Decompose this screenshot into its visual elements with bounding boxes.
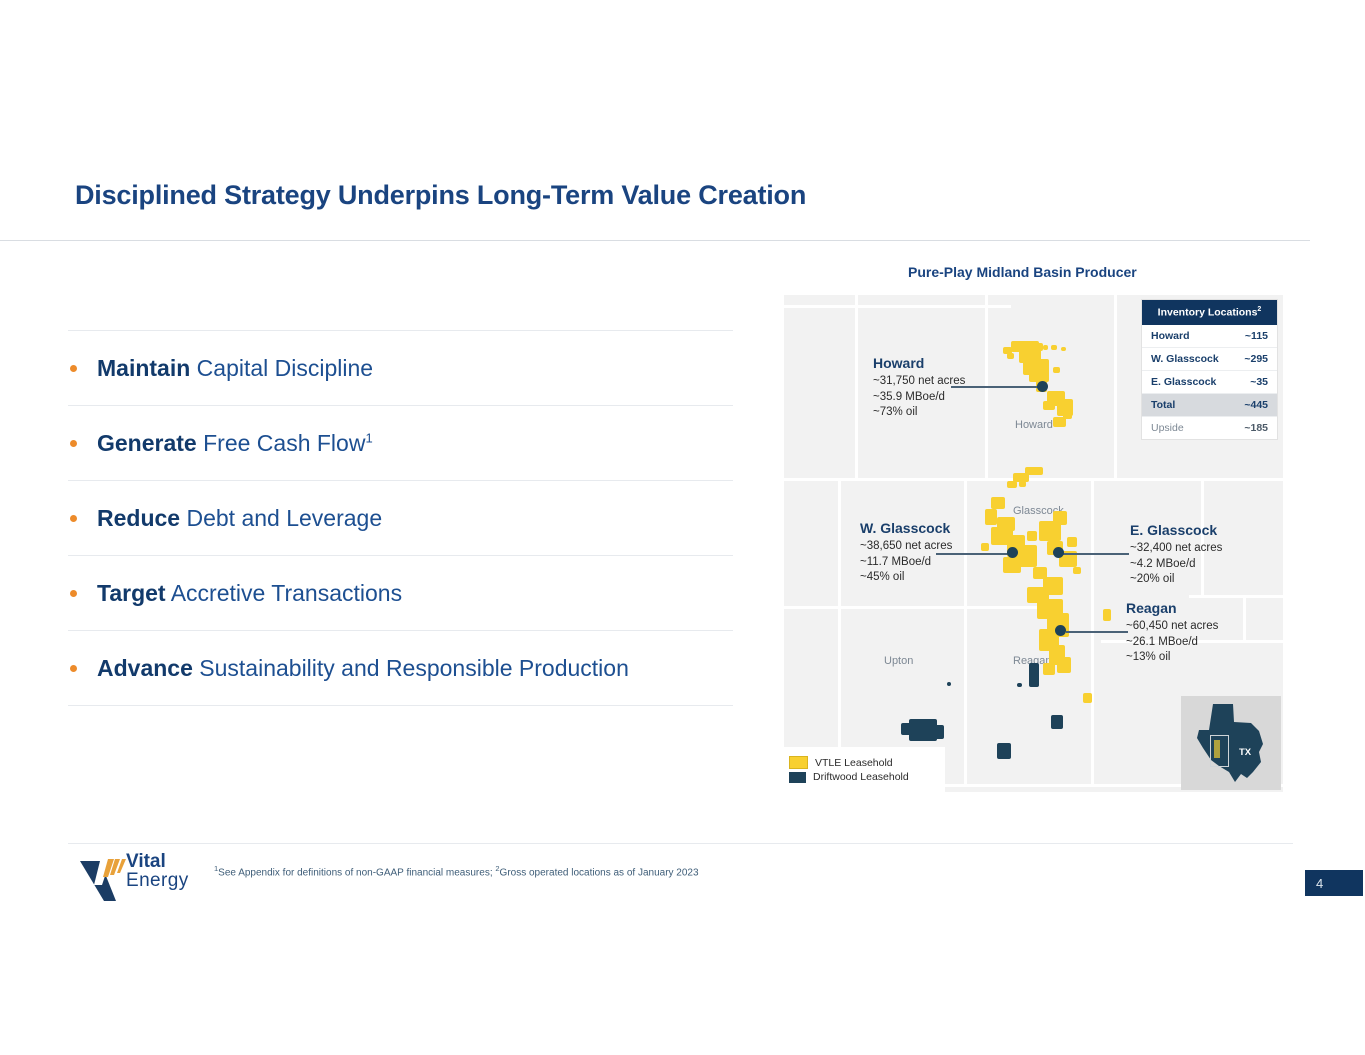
map-node-reagan [1055,625,1066,636]
strategy-bullet-list: Maintain Capital Discipline Generate Fre… [68,330,733,706]
vtle-blob [1103,609,1111,621]
callout-title: Reagan [1126,600,1218,616]
vtle-blob [981,543,989,551]
leader-line [1066,631,1128,633]
county-border [781,606,1041,609]
map-node-w-glasscock [1007,547,1018,558]
vtle-blob [1073,567,1081,574]
bullet-dot-icon [70,590,77,597]
bullet-dot-icon [70,515,77,522]
county-label: Howard [1015,419,1053,431]
row-value: ~445 [1244,399,1268,411]
page-title: Disciplined Strategy Underpins Long-Term… [75,180,806,211]
vtle-blob [1067,537,1077,547]
vtle-blob [1061,347,1066,351]
state-label: TX [1239,747,1251,758]
driftwood-blob [997,743,1011,759]
list-item: Maintain Capital Discipline [68,330,733,405]
driftwood-blob [901,723,913,735]
callout-e-glasscock: E. Glasscock ~32,400 net acres ~4.2 MBoe… [1130,522,1222,588]
callout-acres: ~32,400 net acres [1130,541,1222,557]
callout-title: W. Glasscock [860,520,952,536]
driftwood-blob [947,682,951,686]
callout-rate: ~26.1 MBoe/d [1126,635,1218,651]
vtle-blob [1007,481,1017,488]
legend-label: Driftwood Leasehold [813,771,909,783]
row-value: ~35 [1250,376,1268,388]
leader-line [1061,553,1129,555]
map-legend: VTLE Leasehold Driftwood Leasehold [781,747,945,792]
row-value: ~295 [1244,353,1268,365]
vtle-blob [991,497,1005,509]
list-item: Target Accretive Transactions [68,555,733,630]
logo-line-2: Energy [126,871,189,890]
list-item: Reduce Debt and Leverage [68,480,733,555]
map-heading: Pure-Play Midland Basin Producer [908,264,1137,280]
bullet-text: Target Accretive Transactions [97,580,402,607]
bullet-dot-icon [70,665,77,672]
footnote: 1See Appendix for definitions of non-GAA… [214,864,699,878]
vtle-blob [985,509,997,525]
table-row-upside: Upside ~185 [1142,417,1277,439]
vtle-blob [1003,557,1021,573]
callout-rate: ~11.7 MBoe/d [860,555,952,571]
driftwood-blob [1051,715,1063,729]
callout-acres: ~60,450 net acres [1126,619,1218,635]
row-label: E. Glasscock [1151,376,1216,388]
vtle-blob [1007,353,1014,359]
row-label: Total [1151,399,1175,411]
table-row: W. Glasscock ~295 [1142,348,1277,371]
callout-oil: ~20% oil [1130,572,1222,588]
logo-line-1: Vital [126,852,189,871]
callout-title: Howard [873,355,965,371]
bullet-text: Generate Free Cash Flow1 [97,430,373,457]
bullet-text: Advance Sustainability and Responsible P… [97,655,629,682]
table-row: E. Glasscock ~35 [1142,371,1277,394]
bullet-text: Reduce Debt and Leverage [97,505,382,532]
list-item: Advance Sustainability and Responsible P… [68,630,733,706]
vtle-blob [1063,411,1072,419]
map-node-e-glasscock [1053,547,1064,558]
row-value: ~115 [1245,330,1268,342]
row-label: Upside [1151,422,1184,434]
vtle-blob [1043,663,1055,675]
vtle-blob [1027,531,1037,541]
driftwood-swatch-icon [789,772,806,783]
county-border [855,295,858,478]
vtle-blob [1051,345,1057,350]
vtle-blob [1083,693,1092,703]
callout-acres: ~38,650 net acres [860,539,952,555]
vtle-blob [1053,367,1060,373]
header-divider [0,240,1310,241]
callout-rate: ~35.9 MBoe/d [873,390,965,406]
county-border [1114,295,1117,478]
legend-label: VTLE Leasehold [815,757,893,769]
row-label: W. Glasscock [1151,353,1219,365]
vtle-blob [1025,467,1043,475]
county-border [781,305,1011,308]
map-node-howard [1037,381,1048,392]
callout-acres: ~31,750 net acres [873,374,965,390]
callout-title: E. Glasscock [1130,522,1222,538]
county-border [964,478,967,784]
row-label: Howard [1151,330,1190,342]
callout-w-glasscock: W. Glasscock ~38,650 net acres ~11.7 MBo… [860,520,952,586]
bullet-dot-icon [70,365,77,372]
vtle-blob [1029,343,1043,351]
county-border [781,478,1283,481]
legend-item-driftwood: Driftwood Leasehold [789,771,937,783]
row-value: ~185 [1244,422,1268,434]
callout-oil: ~13% oil [1126,650,1218,666]
callout-howard: Howard ~31,750 net acres ~35.9 MBoe/d ~7… [873,355,965,421]
table-row: Howard ~115 [1142,325,1277,348]
page-number-badge: 4 [1305,870,1363,896]
county-label: Upton [884,655,913,667]
slide: Disciplined Strategy Underpins Long-Term… [0,0,1365,1055]
vtle-swatch-icon [789,756,808,769]
vtle-blob [1043,401,1055,410]
vtle-blob [1043,345,1048,350]
vtle-blob [1019,481,1026,487]
vtle-blob [1057,657,1071,673]
basin-highlight-fill [1214,740,1220,758]
driftwood-blob [932,725,944,739]
bullet-dot-icon [70,440,77,447]
callout-oil: ~73% oil [873,405,965,421]
bullet-text: Maintain Capital Discipline [97,355,373,382]
vtle-blob [1053,511,1067,525]
list-item: Generate Free Cash Flow1 [68,405,733,480]
texas-inset-map: TX [1181,696,1281,790]
county-border [838,478,841,784]
callout-reagan: Reagan ~60,450 net acres ~26.1 MBoe/d ~1… [1126,600,1218,666]
legend-item-vtle: VTLE Leasehold [789,756,937,769]
inventory-locations-table: Inventory Locations2 Howard ~115 W. Glas… [1142,300,1277,439]
driftwood-blob [1017,683,1022,687]
county-border [1243,595,1246,641]
inventory-table-header: Inventory Locations2 [1142,300,1277,325]
table-row-total: Total ~445 [1142,394,1277,417]
callout-oil: ~45% oil [860,570,952,586]
logo-wordmark: Vital Energy [126,852,189,891]
callout-rate: ~4.2 MBoe/d [1130,557,1222,573]
texas-state-icon [1189,700,1275,786]
county-border [781,295,784,792]
footer-divider [68,843,1293,844]
driftwood-blob [1029,663,1039,687]
